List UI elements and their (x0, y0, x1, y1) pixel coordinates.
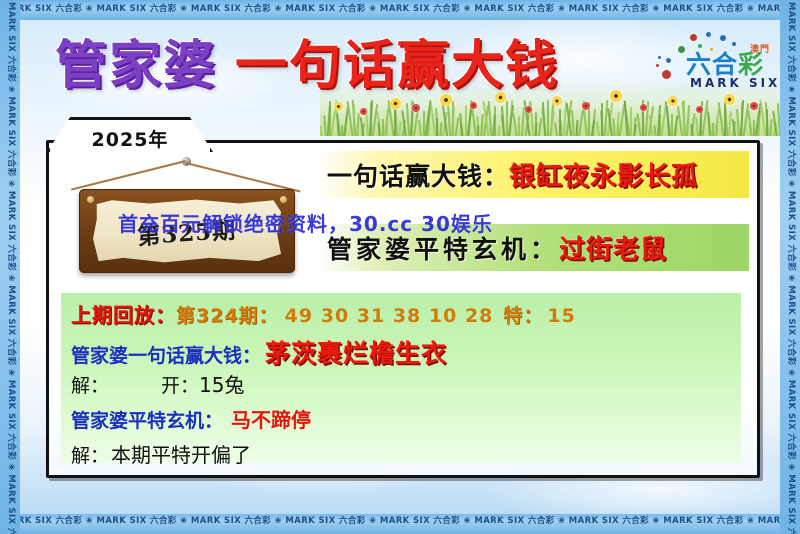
title-part-1: 管家婆 (55, 36, 217, 96)
title-part-2: 一句话赢大钱 (235, 36, 559, 96)
answer-one-label: 解： (71, 371, 109, 398)
answer-one-open-label: 开： (161, 371, 199, 398)
result-panel: 上期回放： 第324期： 49 30 31 38 10 28 特： 15 管家婆… (61, 293, 741, 463)
hanging-sign: 第325期 (61, 153, 311, 283)
riddle-label: 管家婆平特玄机： (71, 406, 223, 433)
phrase-value: 茅茨裹烂檐生衣 (265, 334, 447, 370)
frame-strip-top: MARK SIX 六合彩 ❀ MARK SIX 六合彩 ❀ MARK SIX 六… (0, 0, 800, 20)
playback-line: 上期回放： 第324期： 49 30 31 38 10 28 特： 15 (71, 299, 741, 329)
frame-strip-text: MARK SIX 六合彩 ❀ MARK SIX 六合彩 ❀ MARK SIX 六… (787, 0, 796, 534)
answer-two-value: 本期平特开偏了 (111, 439, 251, 468)
answer-two-line: 解： 本期平特开偏了 (71, 439, 741, 469)
logo-english-name: MARK SIX (690, 77, 780, 89)
riddle-value: 马不蹄停 (231, 404, 311, 433)
mark-six-logo: 澳門 六合彩 MARK SIX (654, 32, 772, 94)
banner-row-phrase-value: 银缸夜永影长孤 (509, 156, 698, 193)
frame-strip-text: MARK SIX 六合彩 ❀ MARK SIX 六合彩 ❀ MARK SIX 六… (0, 517, 800, 526)
issue-number: 第325期 (136, 211, 237, 252)
banner-row-riddle: 管家婆平特玄机： 过街老鼠 (317, 224, 749, 271)
playback-issue: 第324期： (176, 301, 279, 328)
main-card: 2025年 第325期 一句话赢大钱： 银缸夜永影长孤 管家婆平特玄机： 过街老… (46, 140, 760, 478)
banner-row-phrase: 一句话赢大钱： 银缸夜永影长孤 (317, 151, 749, 198)
banner-rows: 一句话赢大钱： 银缸夜永影长孤 管家婆平特玄机： 过街老鼠 (317, 151, 749, 271)
special-number: 15 (547, 305, 575, 327)
answer-one-line: 解： 开： 15兔 (71, 369, 741, 399)
sign-rope-left (71, 160, 186, 190)
sign-board: 第325期 (79, 189, 295, 273)
logo-char-2: 合 (712, 50, 738, 79)
sign-paper: 第325期 (93, 199, 281, 263)
special-label: 特： (503, 301, 543, 328)
banner-row-riddle-value: 过街老鼠 (559, 229, 667, 266)
year-label: 2025年 (92, 125, 169, 152)
frame-strip-left: MARK SIX 六合彩 ❀ MARK SIX 六合彩 ❀ MARK SIX 六… (0, 0, 20, 534)
logo-chinese-name: 六合彩 (686, 52, 764, 77)
logo-char-3: 彩 (738, 50, 764, 79)
playback-label: 上期回放： (71, 299, 176, 328)
frame-strip-text: MARK SIX 六合彩 ❀ MARK SIX 六合彩 ❀ MARK SIX 六… (0, 5, 800, 14)
frame-strip-bottom: MARK SIX 六合彩 ❀ MARK SIX 六合彩 ❀ MARK SIX 六… (0, 512, 800, 534)
answer-one-value: 15兔 (199, 369, 244, 398)
playback-numbers: 49 30 31 38 10 28 (285, 305, 494, 327)
year-tag: 2025年 (47, 117, 213, 152)
banner-row-phrase-label: 一句话赢大钱： (327, 157, 509, 193)
phrase-line: 管家婆一句话赢大钱： 茅茨裹烂檐生衣 (71, 334, 741, 364)
riddle-line: 管家婆平特玄机： 马不蹄停 (71, 404, 741, 434)
banner-row-riddle-label: 管家婆平特玄机： (327, 230, 559, 266)
page-title: 管家婆一句话赢大钱 (55, 40, 559, 92)
phrase-label: 管家婆一句话赢大钱： (71, 341, 261, 368)
logo-char-1: 六 (686, 50, 712, 79)
sign-rope-right (186, 162, 301, 192)
frame-strip-text: MARK SIX 六合彩 ❀ MARK SIX 六合彩 ❀ MARK SIX 六… (7, 0, 16, 534)
lottery-poster: MARK SIX 六合彩 ❀ MARK SIX 六合彩 ❀ MARK SIX 六… (0, 0, 800, 534)
frame-strip-right: MARK SIX 六合彩 ❀ MARK SIX 六合彩 ❀ MARK SIX 六… (780, 0, 800, 534)
answer-two-label: 解： (71, 441, 109, 468)
